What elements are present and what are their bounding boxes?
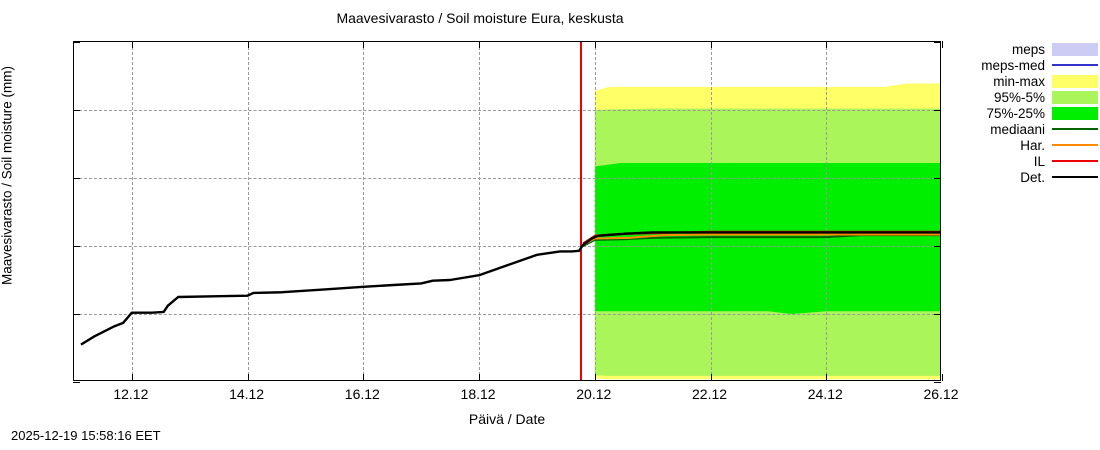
chart-page: Maavesivarasto / Soil moisture Eura, kes… bbox=[0, 0, 1100, 450]
page-title: Maavesivarasto / Soil moisture Eura, kes… bbox=[0, 10, 960, 26]
legend-swatch-fill bbox=[1052, 91, 1098, 104]
timestamp: 2025-12-19 15:58:16 EET bbox=[11, 428, 161, 443]
legend-item-mediaani[interactable]: mediaani bbox=[962, 121, 1098, 137]
legend-swatch-line bbox=[1052, 160, 1098, 162]
x-axis-tick bbox=[826, 374, 827, 381]
x-axis-tick bbox=[132, 41, 133, 48]
x-axis-tick bbox=[595, 41, 596, 48]
x-axis-tick bbox=[363, 374, 364, 381]
plot-area bbox=[73, 41, 941, 381]
legend-item-label: 95%-5% bbox=[994, 90, 1052, 105]
x-tick-label: 24.12 bbox=[790, 386, 860, 402]
legend-swatch-line bbox=[1052, 176, 1098, 178]
legend-item-meps-med[interactable]: meps-med bbox=[962, 57, 1098, 73]
y-axis-tick bbox=[73, 178, 80, 179]
x-axis-tick bbox=[942, 374, 943, 381]
x-tick-label: 26.12 bbox=[906, 386, 976, 402]
y-axis-tick bbox=[934, 110, 941, 111]
y-axis-label: Maavesivarasto / Soil moisture (mm) bbox=[0, 0, 15, 376]
legend-item-label: meps-med bbox=[981, 58, 1052, 73]
legend-item-det-[interactable]: Det. bbox=[962, 169, 1098, 185]
x-axis-tick bbox=[132, 374, 133, 381]
legend-item-min-max[interactable]: min-max bbox=[962, 73, 1098, 89]
x-tick-label: 16.12 bbox=[327, 386, 397, 402]
legend: mepsmeps-medmin-max95%-5%75%-25%mediaani… bbox=[962, 41, 1098, 185]
y-axis-tick bbox=[73, 110, 80, 111]
y-axis-tick bbox=[73, 246, 80, 247]
legend-item-95-5-[interactable]: 95%-5% bbox=[962, 89, 1098, 105]
legend-swatch-fill bbox=[1052, 43, 1098, 56]
x-axis-tick bbox=[248, 374, 249, 381]
legend-swatch-fill bbox=[1052, 75, 1098, 88]
series-line-det- bbox=[81, 232, 940, 344]
x-axis-tick bbox=[248, 41, 249, 48]
y-axis-tick bbox=[73, 42, 80, 43]
legend-item-75-25-[interactable]: 75%-25% bbox=[962, 105, 1098, 121]
legend-swatch-line bbox=[1052, 128, 1098, 130]
y-axis-tick bbox=[73, 314, 80, 315]
y-axis-tick bbox=[934, 246, 941, 247]
legend-item-label: meps bbox=[1012, 42, 1052, 57]
x-tick-label: 18.12 bbox=[443, 386, 513, 402]
x-axis-label: Päivä / Date bbox=[73, 411, 941, 427]
x-axis-tick bbox=[942, 41, 943, 48]
y-axis-tick bbox=[934, 314, 941, 315]
y-axis-tick bbox=[73, 382, 80, 383]
legend-item-label: Har. bbox=[1020, 138, 1052, 153]
x-tick-label: 22.12 bbox=[675, 386, 745, 402]
x-axis-tick bbox=[595, 374, 596, 381]
x-axis-tick bbox=[479, 374, 480, 381]
x-axis-tick bbox=[711, 374, 712, 381]
legend-swatch-line bbox=[1052, 64, 1098, 66]
legend-item-label: 75%-25% bbox=[986, 106, 1052, 121]
y-axis-tick bbox=[934, 178, 941, 179]
x-tick-label: 20.12 bbox=[559, 386, 629, 402]
x-tick-label: 14.12 bbox=[212, 386, 282, 402]
legend-item-label: IL bbox=[1034, 154, 1052, 169]
y-axis-tick bbox=[934, 42, 941, 43]
legend-swatch-line bbox=[1052, 144, 1098, 146]
x-tick-label: 12.12 bbox=[96, 386, 166, 402]
legend-item-har-[interactable]: Har. bbox=[962, 137, 1098, 153]
x-axis-tick bbox=[363, 41, 364, 48]
legend-item-label: mediaani bbox=[990, 122, 1052, 137]
y-axis-tick bbox=[934, 382, 941, 383]
plot-clip bbox=[74, 42, 940, 380]
series-lines-layer bbox=[74, 42, 940, 380]
legend-item-label: min-max bbox=[993, 74, 1052, 89]
legend-item-il[interactable]: IL bbox=[962, 153, 1098, 169]
legend-item-meps[interactable]: meps bbox=[962, 41, 1098, 57]
legend-item-label: Det. bbox=[1020, 170, 1052, 185]
x-axis-tick bbox=[479, 41, 480, 48]
x-axis-tick bbox=[711, 41, 712, 48]
legend-swatch-fill bbox=[1052, 107, 1098, 120]
x-axis-tick bbox=[826, 41, 827, 48]
